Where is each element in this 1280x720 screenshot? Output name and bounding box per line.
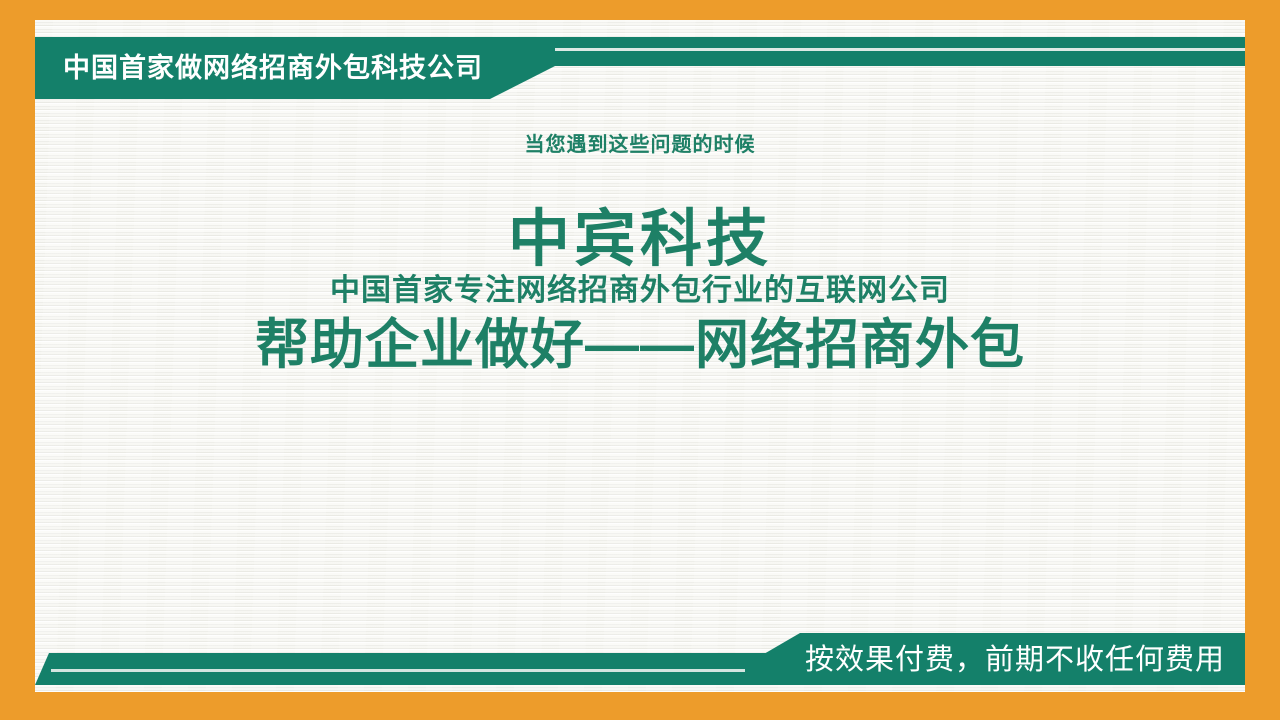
footer-slogan: 按效果付费，前期不收任何费用 [805,633,1225,685]
footer-banner: 按效果付费，前期不收任何费用 [35,633,1245,685]
header-title: 中国首家做网络招商外包科技公司 [63,37,483,99]
footer-accent-rule [51,669,766,672]
slide-root: 中国首家做网络招商外包科技公司 当您遇到这些问题的时候 中宾科技 中国首家专注网… [0,0,1280,720]
header-banner: 中国首家做网络招商外包科技公司 [35,37,1245,99]
main-content: 当您遇到这些问题的时候 中宾科技 中国首家专注网络招商外包行业的互联网公司 帮助… [35,130,1245,378]
header-accent-rule [530,48,1245,51]
eyebrow-text: 当您遇到这些问题的时候 [35,130,1245,160]
brand-name: 中宾科技 [35,204,1245,276]
brand-tagline: 中国首家专注网络招商外包行业的互联网公司 [35,272,1245,310]
slide-canvas: 中国首家做网络招商外包科技公司 当您遇到这些问题的时候 中宾科技 中国首家专注网… [35,20,1245,692]
header-accent-bar [490,37,1245,66]
main-headline: 帮助企业做好——网络招商外包 [35,312,1245,378]
